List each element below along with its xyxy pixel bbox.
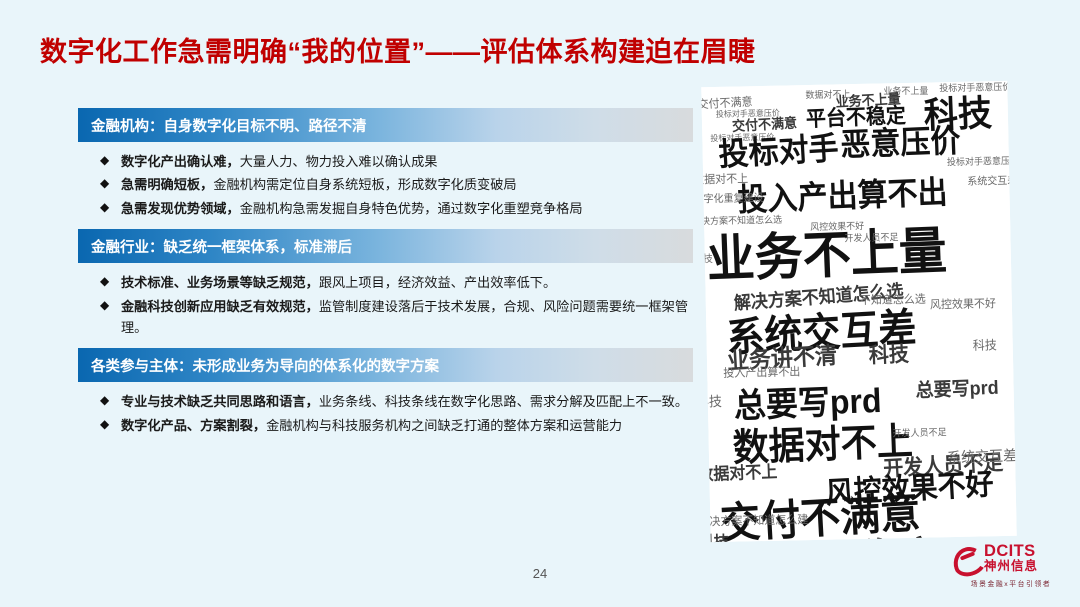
wordcloud-word: 风控效果不好 xyxy=(810,222,864,233)
section-header-label: 金融行业： xyxy=(91,236,164,257)
section-header: 金融机构：自身数字化目标不明、路径不清 xyxy=(78,108,693,142)
content-section: 金融行业：缺乏统一框架体系，标准滞后◆技术标准、业务场景等缺乏规范，跟风上项目，… xyxy=(78,229,693,338)
bullet-rest: 金融机构与科技服务机构之间缺乏打通的整体方案和运营能力 xyxy=(266,418,622,433)
wordcloud-word: 解决方案不知道怎么选 xyxy=(701,215,782,226)
wordcloud-word: 投入产出算不出 xyxy=(723,367,800,380)
diamond-bullet-icon: ◆ xyxy=(100,198,121,217)
section-header-label: 金融机构： xyxy=(91,115,164,136)
logo-text: DCITS 神州信息 xyxy=(984,543,1038,574)
wordcloud-word: 科技 xyxy=(973,339,997,352)
bullet-lead: 技术标准、业务场景等缺乏规范， xyxy=(121,275,319,290)
wordcloud-word: 科技 xyxy=(701,534,729,542)
bullet-text: 急需明确短板，金融机构需定位自身系统短板，形成数字化质变破局 xyxy=(121,174,693,195)
wordcloud-word: 系统交互差 xyxy=(967,176,1017,188)
wordcloud-canvas: 交付不满意数据对不上业务不上量投标对手恶意压价投标对手恶意压价交付不满意平台不稳… xyxy=(701,81,1016,542)
bullet-item: ◆急需明确短板，金融机构需定位自身系统短板，形成数字化质变破局 xyxy=(100,174,693,195)
dcits-swoosh-icon xyxy=(952,545,979,571)
wordcloud-word: 开发人员不足 xyxy=(844,233,898,244)
wordcloud-word: 业务不上量 xyxy=(835,92,901,109)
section-header: 金融行业：缺乏统一框架体系，标准滞后 xyxy=(78,229,693,263)
section-header-desc: 缺乏统一框架体系，标准滞后 xyxy=(164,236,353,257)
bullet-text: 技术标准、业务场景等缺乏规范，跟风上项目，经济效益、产出效率低下。 xyxy=(121,272,693,293)
bullet-list: ◆数字化产出确认难，大量人力、物力投入难以确认成果◆急需明确短板，金融机构需定位… xyxy=(78,142,693,219)
wordcloud-word: 开发人员不足 xyxy=(892,428,946,439)
bullet-item: ◆急需发现优势领域，金融机构急需发掘自身特色优势，通过数字化重塑竞争格局 xyxy=(100,198,693,219)
bullet-rest: 大量人力、物力投入难以确认成果 xyxy=(240,154,438,169)
bullet-rest: 金融机构急需发掘自身特色优势，通过数字化重塑竞争格局 xyxy=(240,201,583,216)
bullet-rest: 金融机构需定位自身系统短板，形成数字化质变破局 xyxy=(213,177,516,192)
wordcloud-word: 数据对不上 xyxy=(701,465,777,485)
bullet-lead: 专业与技术缺乏共同思路和语言， xyxy=(121,394,319,409)
logo-name-cn: 神州信息 xyxy=(984,560,1038,573)
logo-row: DCITS 神州信息 xyxy=(952,543,1070,574)
wordcloud-word: 投标对手恶意压价 xyxy=(947,156,1017,167)
wordcloud-word: 不知道怎么选 xyxy=(860,294,926,307)
content-section: 各类参与主体：未形成业务为导向的体系化的数字方案◆专业与技术缺乏共同思路和语言，… xyxy=(78,348,693,436)
content-column: 金融机构：自身数字化目标不明、路径不清◆数字化产出确认难，大量人力、物力投入难以… xyxy=(78,108,693,446)
bullet-item: ◆数字化产出确认难，大量人力、物力投入难以确认成果 xyxy=(100,151,693,172)
wordcloud-word: 总要写prd xyxy=(915,378,999,400)
bullet-item: ◆数字化产品、方案割裂，金融机构与科技服务机构之间缺乏打通的整体方案和运营能力 xyxy=(100,415,693,436)
bullet-text: 急需发现优势领域，金融机构急需发掘自身特色优势，通过数字化重塑竞争格局 xyxy=(121,198,693,219)
wordcloud-word: 系统交互差 xyxy=(947,448,1017,466)
bullet-text: 金融科技创新应用缺乏有效规范，监管制度建设落后于技术发展，合规、风险问题需要统一… xyxy=(121,296,693,339)
section-header-label: 各类参与主体： xyxy=(91,355,193,376)
bullet-lead: 数字化产品、方案割裂， xyxy=(121,418,266,433)
wordcloud-word: 解决方案不知道怎么建 xyxy=(701,515,808,529)
bullet-list: ◆技术标准、业务场景等缺乏规范，跟风上项目，经济效益、产出效率低下。◆金融科技创… xyxy=(78,263,693,338)
diamond-bullet-icon: ◆ xyxy=(100,151,121,170)
wordcloud-word: 总要写prd xyxy=(733,383,882,423)
section-header: 各类参与主体：未形成业务为导向的体系化的数字方案 xyxy=(78,348,693,382)
bullet-lead: 急需发现优势领域， xyxy=(121,201,240,216)
diamond-bullet-icon: ◆ xyxy=(100,415,121,434)
wordcloud-word: 恶意压价 xyxy=(840,126,961,162)
diamond-bullet-icon: ◆ xyxy=(100,296,121,315)
wordcloud-word: 科技 xyxy=(701,255,713,266)
section-header-desc: 自身数字化目标不明、路径不清 xyxy=(164,115,367,136)
page-number: 24 xyxy=(0,566,1080,581)
bullet-text: 专业与技术缺乏共同思路和语言，业务条线、科技条线在数字化思路、需求分解及匹配上不… xyxy=(121,391,693,412)
wordcloud-word: 投标对手 xyxy=(718,133,840,171)
diamond-bullet-icon: ◆ xyxy=(100,272,121,291)
bullet-list: ◆专业与技术缺乏共同思路和语言，业务条线、科技条线在数字化思路、需求分解及匹配上… xyxy=(78,382,693,436)
content-section: 金融机构：自身数字化目标不明、路径不清◆数字化产出确认难，大量人力、物力投入难以… xyxy=(78,108,693,219)
logo-name-en: DCITS xyxy=(984,543,1038,560)
bullet-lead: 急需明确短板， xyxy=(121,177,213,192)
bullet-text: 数字化产出确认难，大量人力、物力投入难以确认成果 xyxy=(121,151,693,172)
wordcloud-word: 投标对手恶意压价 xyxy=(939,82,1011,93)
wordcloud-word: 交付不满意 xyxy=(732,116,798,133)
wordcloud-image: 交付不满意数据对不上业务不上量投标对手恶意压价投标对手恶意压价交付不满意平台不稳… xyxy=(701,81,1016,542)
bullet-lead: 数字化产出确认难， xyxy=(121,154,240,169)
wordcloud-word: 投入产出算不出 xyxy=(737,177,948,217)
page-title: 数字化工作急需明确“我的位置”——评估体系构建迫在眉睫 xyxy=(40,30,870,69)
bullet-text: 数字化产品、方案割裂，金融机构与科技服务机构之间缺乏打通的整体方案和运营能力 xyxy=(121,415,693,436)
wordcloud-word: 业务不上量 xyxy=(706,227,948,287)
wordcloud-word: 科技 xyxy=(701,395,722,409)
wordcloud-word: 风控效果不好 xyxy=(930,299,996,312)
section-header-desc: 未形成业务为导向的体系化的数字方案 xyxy=(193,355,440,376)
wordcloud-word: 数字化重复建设 xyxy=(701,194,763,206)
logo-tagline: 场景金融x平台引领者 xyxy=(952,578,1070,588)
wordcloud-word: 科技 xyxy=(869,344,910,367)
bullet-rest: 业务条线、科技条线在数字化思路、需求分解及匹配上不一致。 xyxy=(319,394,688,409)
diamond-bullet-icon: ◆ xyxy=(100,174,121,193)
bullet-item: ◆技术标准、业务场景等缺乏规范，跟风上项目，经济效益、产出效率低下。 xyxy=(100,272,693,293)
diamond-bullet-icon: ◆ xyxy=(100,391,121,410)
bullet-rest: 跟风上项目，经济效益、产出效率低下。 xyxy=(319,275,556,290)
bullet-item: ◆专业与技术缺乏共同思路和语言，业务条线、科技条线在数字化思路、需求分解及匹配上… xyxy=(100,391,693,412)
bullet-lead: 金融科技创新应用缺乏有效规范， xyxy=(121,299,319,314)
bullet-item: ◆金融科技创新应用缺乏有效规范，监管制度建设落后于技术发展，合规、风险问题需要统… xyxy=(100,296,693,339)
company-logo: DCITS 神州信息 场景金融x平台引领者 xyxy=(952,543,1070,595)
